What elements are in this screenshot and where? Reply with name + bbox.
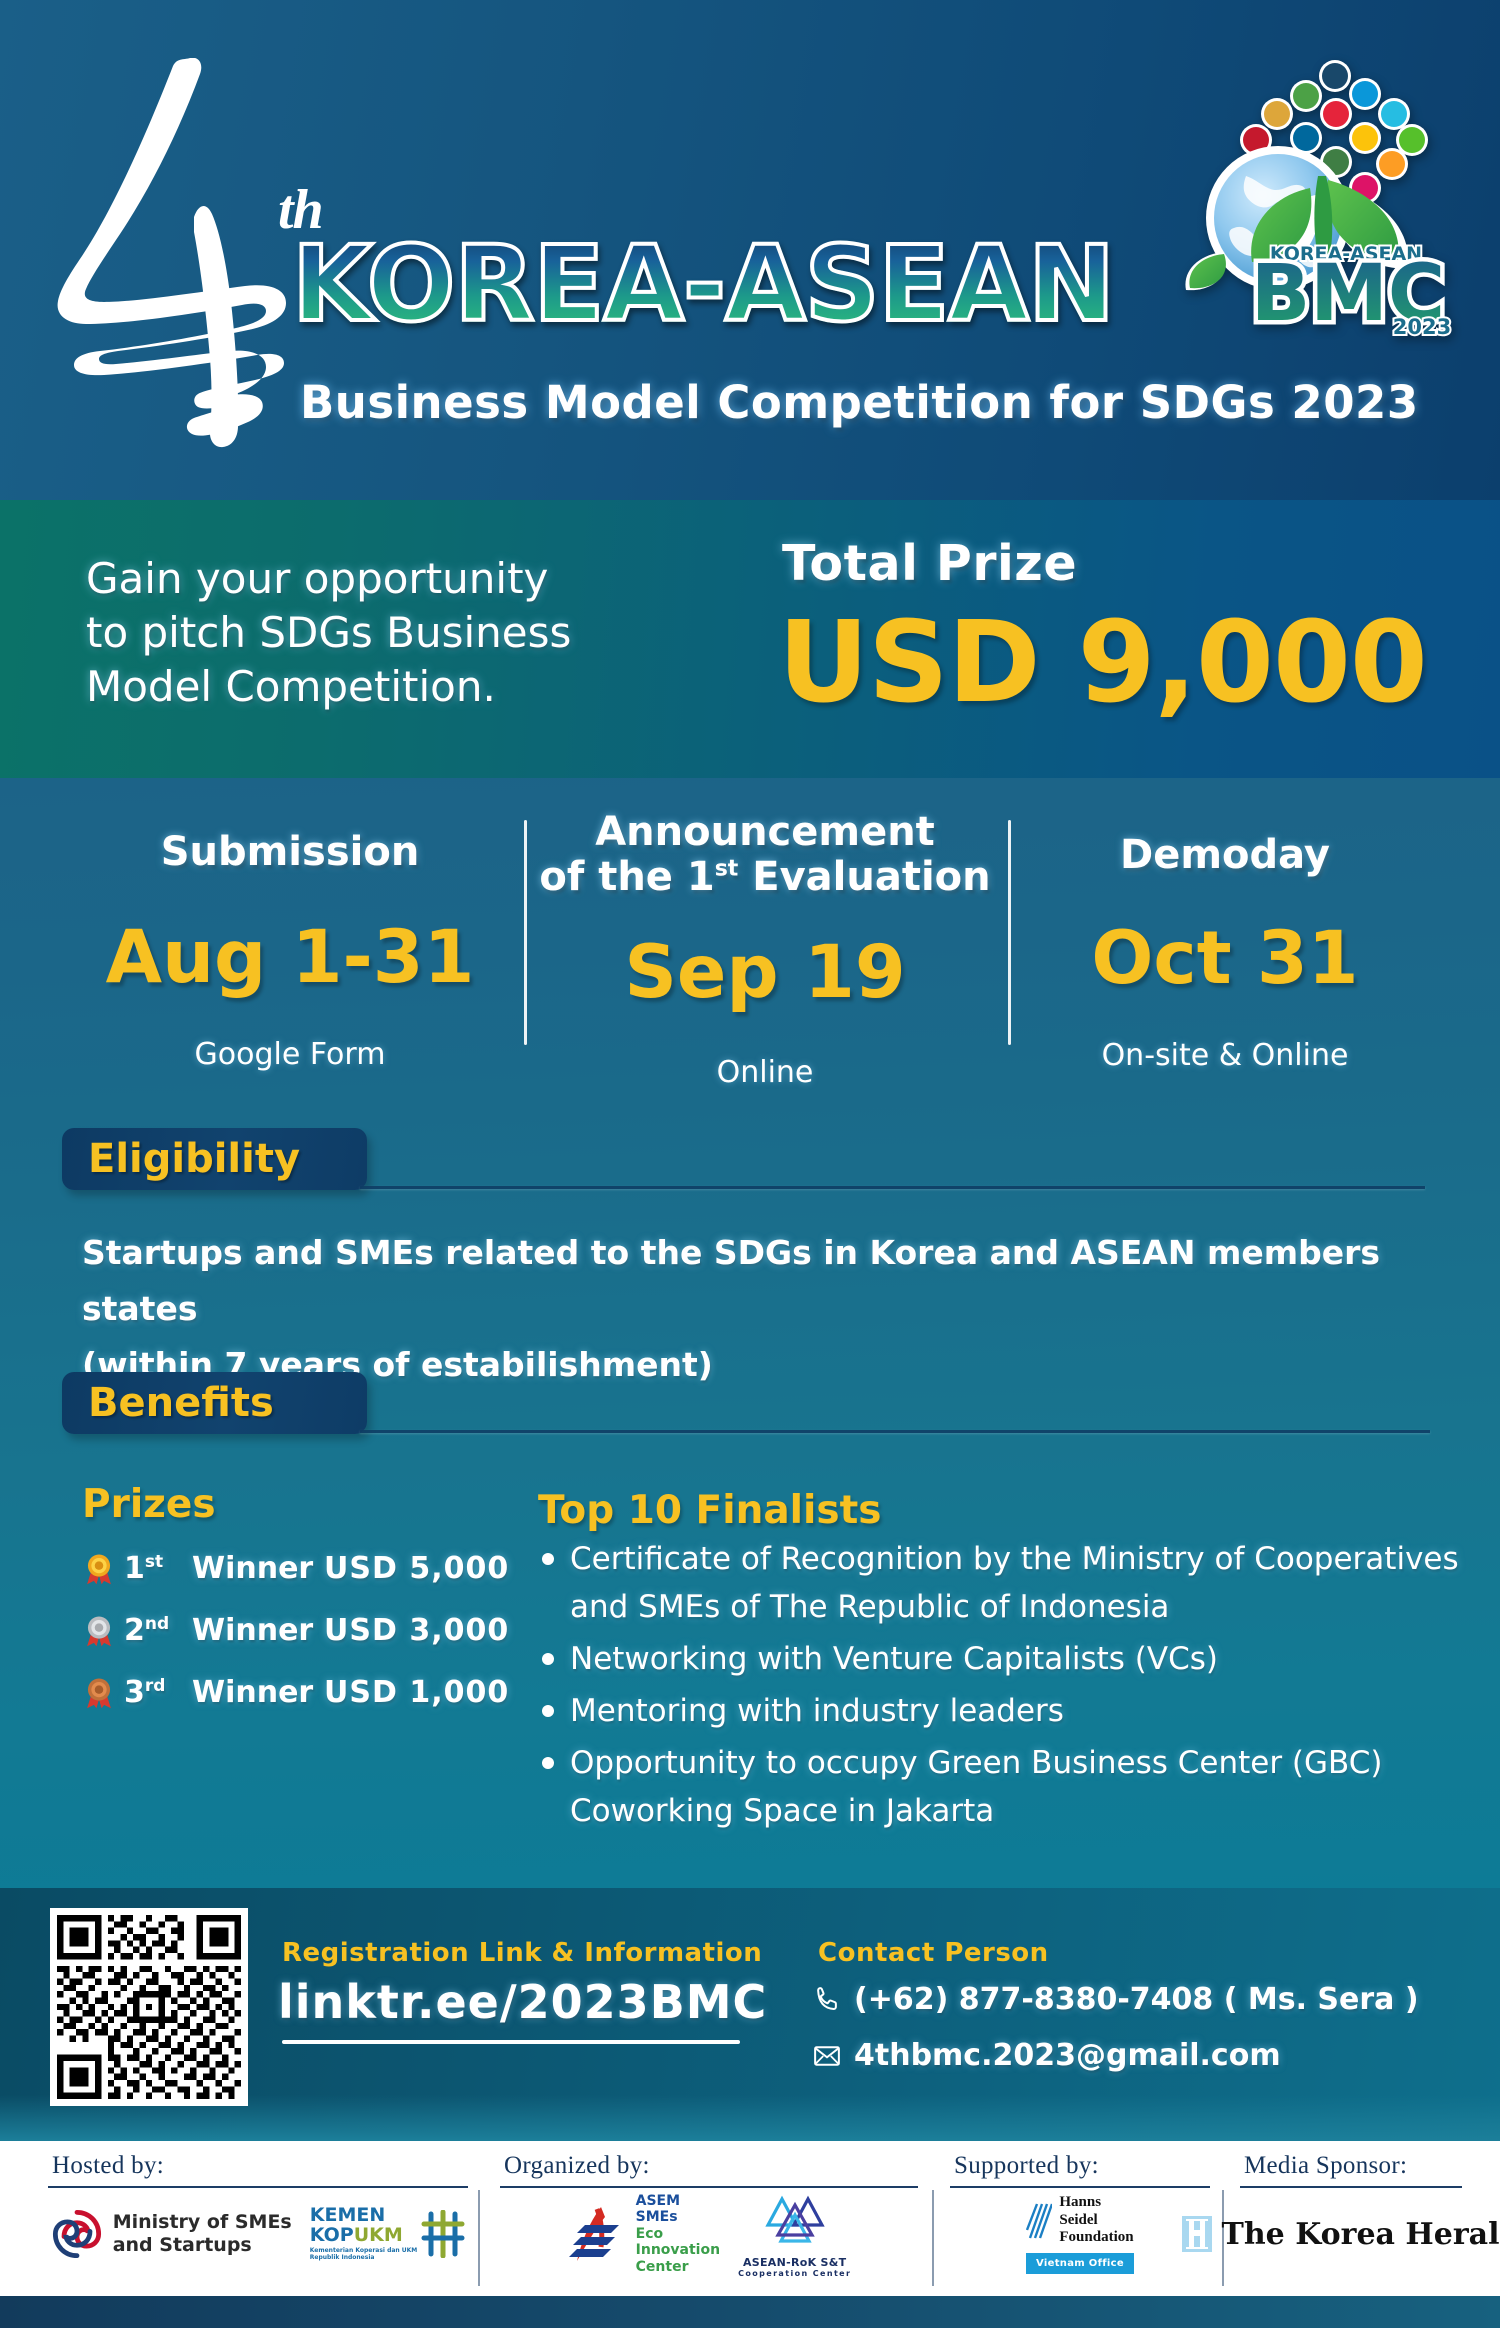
eligibility-line-1: Startups and SMEs related to the SDGs in…: [82, 1225, 1442, 1337]
timeline-note: Online: [530, 1009, 1000, 1090]
hanns-line-1: Hanns: [1059, 2194, 1133, 2212]
footer-column-supported-by: Supported by: Hanns Seidel Foundation: [950, 2152, 1210, 2294]
the-korea-herald-logo: The Korea Herald: [1182, 2216, 1500, 2252]
ministry-line-1: Ministry of SMEs: [113, 2211, 292, 2234]
footer-column-hosted-by: Hosted by: Ministry of SMEs and Startups…: [48, 2152, 468, 2294]
arok-name-line-2: Cooperation Center: [738, 2269, 851, 2278]
total-prize-label: Total Prize: [782, 535, 1077, 592]
gold-medal-icon: [82, 1552, 116, 1586]
section-rule-benefits: [360, 1430, 1430, 1433]
timeline-item-submission: Submission Aug 1-31 Google Form: [60, 778, 520, 1072]
tagline: Gain your opportunity to pitch SDGs Busi…: [86, 552, 706, 713]
footer-column-title: Hosted by:: [48, 2152, 468, 2180]
prize-rank: 1st: [124, 1551, 192, 1586]
taegeuk-icon: [51, 2208, 103, 2260]
footer-column-media-sponsor: Media Sponsor: The Korea Herald: [1240, 2152, 1462, 2294]
registration-label: Registration Link & Information: [282, 1938, 762, 1968]
qr-code[interactable]: [50, 1908, 248, 2106]
silver-medal-icon: [82, 1614, 116, 1648]
timeline-date: Sep 19: [530, 900, 1000, 1009]
asean-rok-st-cooperation-center-logo: ASEAN-RoK S&T Cooperation Center: [738, 2191, 851, 2278]
prize-rank-suffix: nd: [145, 1614, 169, 1634]
footer-column-organized-by: Organized by: ASEM SMEs Eco Innovation C…: [500, 2152, 918, 2294]
tagline-line-2: to pitch SDGs Business: [86, 606, 706, 660]
kemen-subtitle-1: Kementerian Koperasi dan UKM: [310, 2247, 418, 2254]
prize-row: 3rd Winner USD 1,000: [82, 1675, 509, 1710]
registration-link[interactable]: linktr.ee/2023BMC: [278, 1975, 767, 2029]
kopukm-line: KOPUKM: [310, 2226, 418, 2245]
section-header-eligibility: Eligibility: [62, 1128, 367, 1190]
prize-rank-number: 3: [124, 1675, 145, 1710]
contact-person-label: Contact Person: [818, 1938, 1049, 1968]
ukm-text: UKM: [354, 2224, 403, 2246]
timeline-heading-tail: Evaluation: [752, 854, 990, 900]
finalists-list: Certificate of Recognition by the Minist…: [538, 1535, 1468, 1839]
aseic-line-1: ASEM: [636, 2193, 720, 2210]
hanns-line-3: Foundation: [1059, 2229, 1133, 2247]
timeline-heading-line2: of the 1st Evaluation: [530, 855, 1000, 900]
footer-logo-group: Ministry of SMEs and Startups KEMEN KOPU…: [48, 2188, 468, 2280]
prize-amount: USD 1,000: [324, 1675, 509, 1710]
section-label: Eligibility: [62, 1136, 300, 1182]
contact-phone-row[interactable]: (+62) 877-8380-7408 ( Ms. Sera ): [812, 1982, 1419, 2017]
kemenkopukm-mark-icon: [421, 2210, 465, 2258]
timeline-item-announcement: Announcement of the 1st Evaluation Sep 1…: [530, 778, 1000, 1090]
contact-email-row[interactable]: 4thbmc.2023@gmail.com: [812, 2038, 1281, 2073]
timeline-heading-pre: of the 1: [539, 854, 714, 900]
prize-row: 1st Winner USD 5,000: [82, 1551, 509, 1586]
footer-column-title: Media Sponsor:: [1240, 2152, 1462, 2180]
footer-logo-group: The Korea Herald: [1240, 2188, 1462, 2280]
total-prize-amount: USD 9,000: [778, 598, 1427, 728]
footer-logo-group: Hanns Seidel Foundation Vietnam Office: [950, 2188, 1210, 2280]
ministry-of-smes-and-startups-logo: Ministry of SMEs and Startups: [51, 2208, 292, 2260]
footer-logo-group: ASEM SMEs Eco Innovation Center ASEA: [500, 2188, 918, 2280]
section-header-benefits: Benefits: [62, 1372, 367, 1434]
prize-rank-suffix: st: [145, 1552, 163, 1572]
kemenkopukm-wordmark: KEMEN KOPUKM Kementerian Koperasi dan UK…: [310, 2206, 418, 2262]
korea-asean-bmc-logo: KOREA-ASEAN KOREA-ASEAN BMC BMC 2023 202…: [1160, 48, 1480, 338]
list-item: Certificate of Recognition by the Minist…: [538, 1535, 1468, 1631]
footer-divider-1: [478, 2190, 480, 2286]
tagline-line-1: Gain your opportunity: [86, 552, 706, 606]
prize-rank-suffix: rd: [145, 1676, 166, 1696]
prize-amount: USD 5,000: [324, 1551, 509, 1586]
timeline-note: Google Form: [60, 994, 520, 1072]
hero-section: th KOREA-ASEAN Business Model Competitio…: [0, 0, 1500, 500]
kemenkopukm-logo: KEMEN KOPUKM Kementerian Koperasi dan UK…: [310, 2206, 466, 2262]
page-subtitle: Business Model Competition for SDGs 2023: [300, 376, 1419, 429]
list-item: Mentoring with industry leaders: [538, 1687, 1468, 1735]
aseic-line-3: Eco: [636, 2226, 720, 2243]
registration-underline: [282, 2040, 740, 2044]
prize-rank-number: 1: [124, 1551, 145, 1586]
aseic-line-5: Center: [636, 2259, 720, 2276]
korea-herald-mark-icon: [1182, 2216, 1212, 2252]
list-item: Networking with Venture Capitalists (VCs…: [538, 1635, 1468, 1683]
prize-rank: 2nd: [124, 1613, 192, 1648]
aseic-line-4: Innovation: [636, 2242, 720, 2259]
arok-mark-icon: [758, 2191, 832, 2251]
footer-column-title: Organized by:: [500, 2152, 918, 2180]
section-rule-eligibility: [360, 1186, 1425, 1189]
svg-text:2023: 2023: [1393, 315, 1451, 338]
list-item: Opportunity to occupy Green Business Cen…: [538, 1739, 1468, 1835]
prize-who: Winner: [192, 1551, 324, 1586]
timeline-heading-line1: Announcement: [530, 810, 1000, 855]
prize-who: Winner: [192, 1613, 324, 1648]
hanns-seidel-mark-icon: [1026, 2200, 1052, 2242]
envelope-icon: [812, 2041, 842, 2071]
footer-divider-2: [932, 2190, 934, 2286]
aseic-line-2: SMEs: [636, 2209, 720, 2226]
bronze-medal-icon: [82, 1676, 116, 1710]
asem-smes-eco-innovation-center-logo: ASEM SMEs Eco Innovation Center: [567, 2193, 720, 2276]
kemen-subtitle: Kementerian Koperasi dan UKM Republik In…: [310, 2247, 418, 2262]
prizes-title: Prizes: [82, 1482, 216, 1527]
kop-text: KOP: [310, 2224, 354, 2246]
hanns-seidel-office-badge: Vietnam Office: [1026, 2253, 1133, 2274]
poster-root: th KOREA-ASEAN Business Model Competitio…: [0, 0, 1500, 2328]
timeline-note: On-site & Online: [1010, 995, 1440, 1073]
korea-herald-wordmark: The Korea Herald: [1222, 2217, 1500, 2252]
hanns-seidel-foundation-logo: Hanns Seidel Foundation Vietnam Office: [1026, 2194, 1133, 2274]
hanns-line-2: Seidel: [1059, 2212, 1133, 2230]
timeline-item-demoday: Demoday Oct 31 On-site & Online: [1010, 778, 1440, 1073]
timeline-divider-1: [524, 820, 527, 1045]
hanns-seidel-wordmark: Hanns Seidel Foundation: [1059, 2194, 1133, 2247]
timeline-heading: Demoday: [1010, 778, 1440, 878]
timeline-section: Submission Aug 1-31 Google Form Announce…: [0, 778, 1500, 1078]
arok-name-line-1: ASEAN-RoK S&T: [738, 2256, 851, 2269]
prize-amount: USD 3,000: [324, 1613, 509, 1648]
brush-stroke-four-icon: [52, 58, 322, 448]
bottom-strip: [0, 2296, 1500, 2328]
aseic-wordmark: ASEM SMEs Eco Innovation Center: [636, 2193, 720, 2276]
phone-icon: [812, 1985, 842, 2015]
prize-rank-number: 2: [124, 1613, 145, 1648]
aseic-mark-icon: [567, 2203, 629, 2265]
timeline-date: Oct 31: [1010, 878, 1440, 995]
phone-number: (+62) 877-8380-7408 ( Ms. Sera ): [854, 1982, 1419, 2017]
section-label: Benefits: [62, 1380, 274, 1426]
email-address: 4thbmc.2023@gmail.com: [854, 2038, 1281, 2073]
ministry-line-2: and Startups: [113, 2234, 292, 2257]
finalists-title: Top 10 Finalists: [538, 1488, 881, 1533]
timeline-heading-sup: st: [715, 856, 739, 881]
ministry-name: Ministry of SMEs and Startups: [113, 2211, 292, 2257]
prize-who: Winner: [192, 1675, 324, 1710]
hanns-seidel-row: Hanns Seidel Foundation: [1026, 2194, 1133, 2247]
timeline-date: Aug 1-31: [60, 875, 520, 994]
tagline-line-3: Model Competition.: [86, 660, 706, 714]
timeline-heading: Submission: [60, 778, 520, 875]
kemen-subtitle-2: Republik Indonesia: [310, 2254, 375, 2261]
eligibility-text: Startups and SMEs related to the SDGs in…: [82, 1225, 1442, 1393]
page-title: KOREA-ASEAN: [292, 232, 1114, 336]
timeline-heading: Announcement of the 1st Evaluation: [530, 778, 1000, 900]
prize-rank: 3rd: [124, 1675, 192, 1710]
prize-row: 2nd Winner USD 3,000: [82, 1613, 509, 1648]
footer-column-title: Supported by:: [950, 2152, 1210, 2180]
